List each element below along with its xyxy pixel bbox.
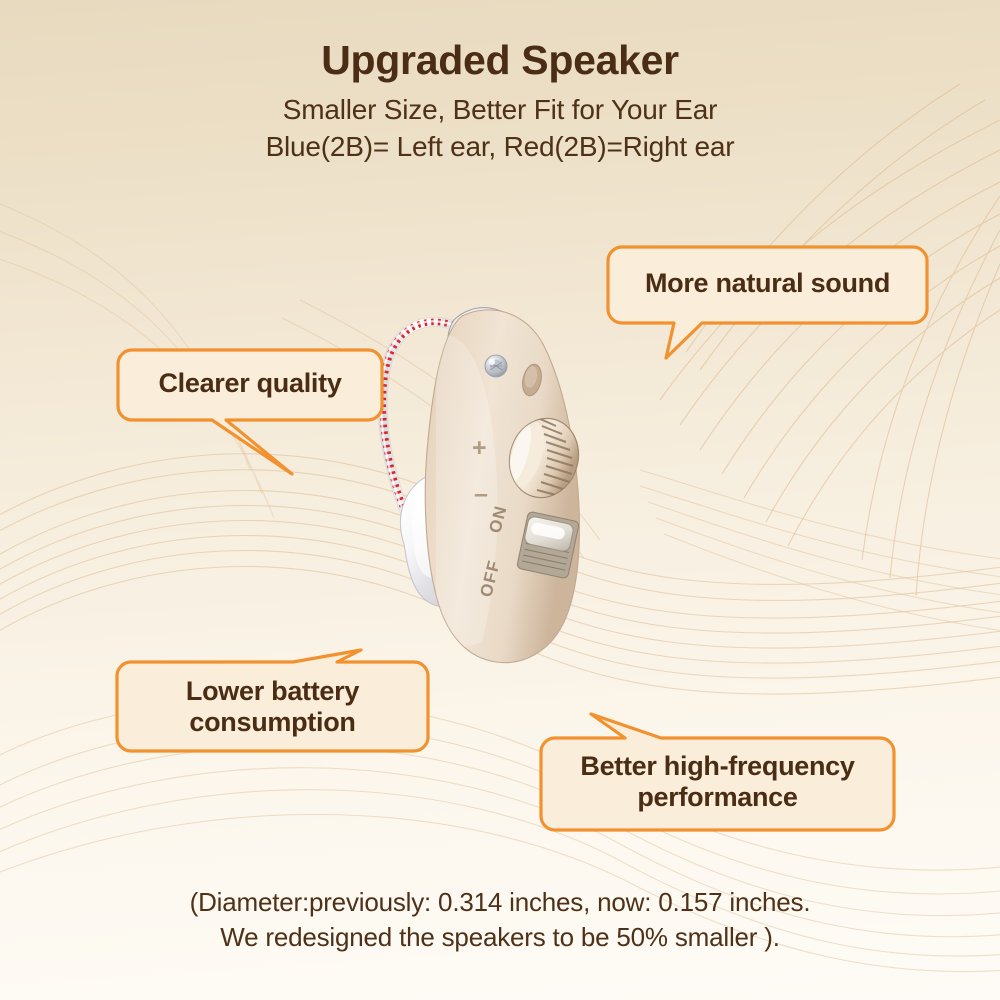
page-title: Upgraded Speaker [0,38,1000,83]
footnote-line-1: (Diameter:previously: 0.314 inches, now:… [0,885,1000,920]
callout-better-high-frequency-performance[interactable]: Better high-frequency performance [539,712,896,832]
callout-clearer-quality[interactable]: Clearer quality [116,348,384,478]
volume-minus-label: – [474,480,488,508]
header-block: Upgraded Speaker Smaller Size, Better Fi… [0,38,1000,166]
footnote-line-2: We redesigned the speakers to be 50% sma… [0,920,1000,955]
subtitle-line-2: Blue(2B)= Left ear, Red(2B)=Right ear [0,129,1000,166]
footnote: (Diameter:previously: 0.314 inches, now:… [0,885,1000,956]
volume-plus-label: + [472,434,487,462]
led-indicator [485,355,507,377]
callout-lower-battery-consumption[interactable]: Lower battery consumption [115,648,430,753]
subtitle-line-1: Smaller Size, Better Fit for Your Ear [0,92,1000,129]
infographic-canvas: Upgraded Speaker Smaller Size, Better Fi… [0,0,1000,1000]
page-subtitle: Smaller Size, Better Fit for Your Ear Bl… [0,92,1000,166]
callout-more-natural-sound[interactable]: More natural sound [606,245,929,360]
